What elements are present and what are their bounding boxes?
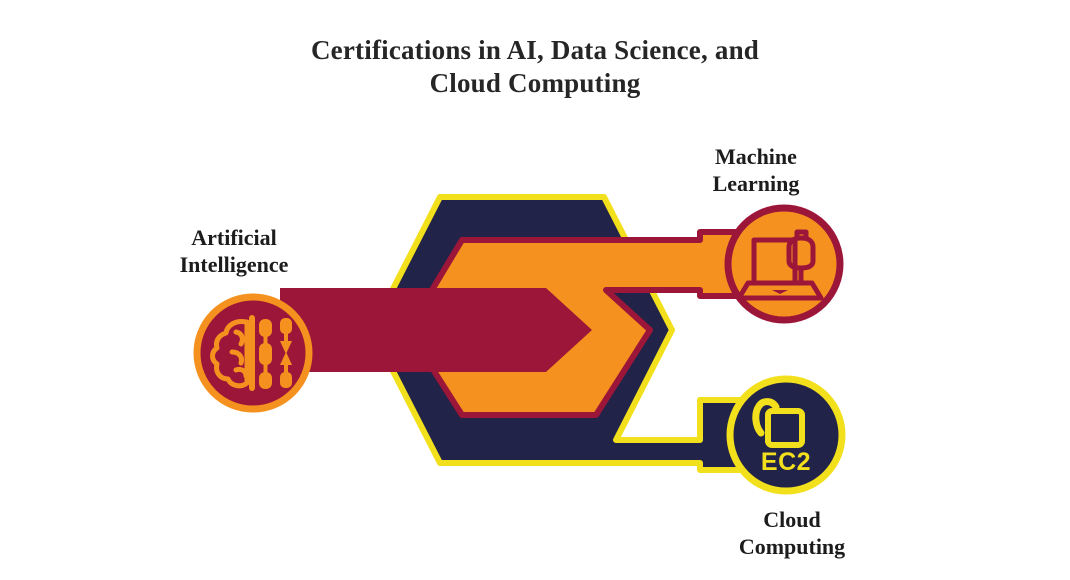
ml-circle bbox=[728, 208, 840, 320]
label-cloud-line-1: Cloud bbox=[676, 506, 908, 533]
ec2-icon-text: EC2 bbox=[761, 448, 811, 476]
label-artificial-intelligence: Artificial Intelligence bbox=[118, 224, 350, 278]
label-cloud-line-2: Computing bbox=[676, 533, 908, 560]
infographic-canvas: Certifications in AI, Data Science, and … bbox=[0, 0, 1070, 580]
inner-hexagon-group[interactable] bbox=[280, 288, 592, 372]
inner-hexagon-shape bbox=[280, 288, 592, 372]
label-ml-line-2: Learning bbox=[640, 170, 872, 197]
label-ai-line-2: Intelligence bbox=[118, 251, 350, 278]
label-ai-line-1: Artificial bbox=[118, 224, 350, 251]
label-machine-learning: Machine Learning bbox=[640, 143, 872, 197]
hexagon-process-diagram: EC2 bbox=[0, 0, 1070, 580]
node-artificial-intelligence[interactable] bbox=[197, 297, 309, 409]
label-cloud-computing: Cloud Computing bbox=[676, 506, 908, 560]
node-cloud-computing[interactable]: EC2 bbox=[730, 379, 842, 491]
node-machine-learning[interactable] bbox=[728, 208, 840, 320]
label-ml-line-1: Machine bbox=[640, 143, 872, 170]
